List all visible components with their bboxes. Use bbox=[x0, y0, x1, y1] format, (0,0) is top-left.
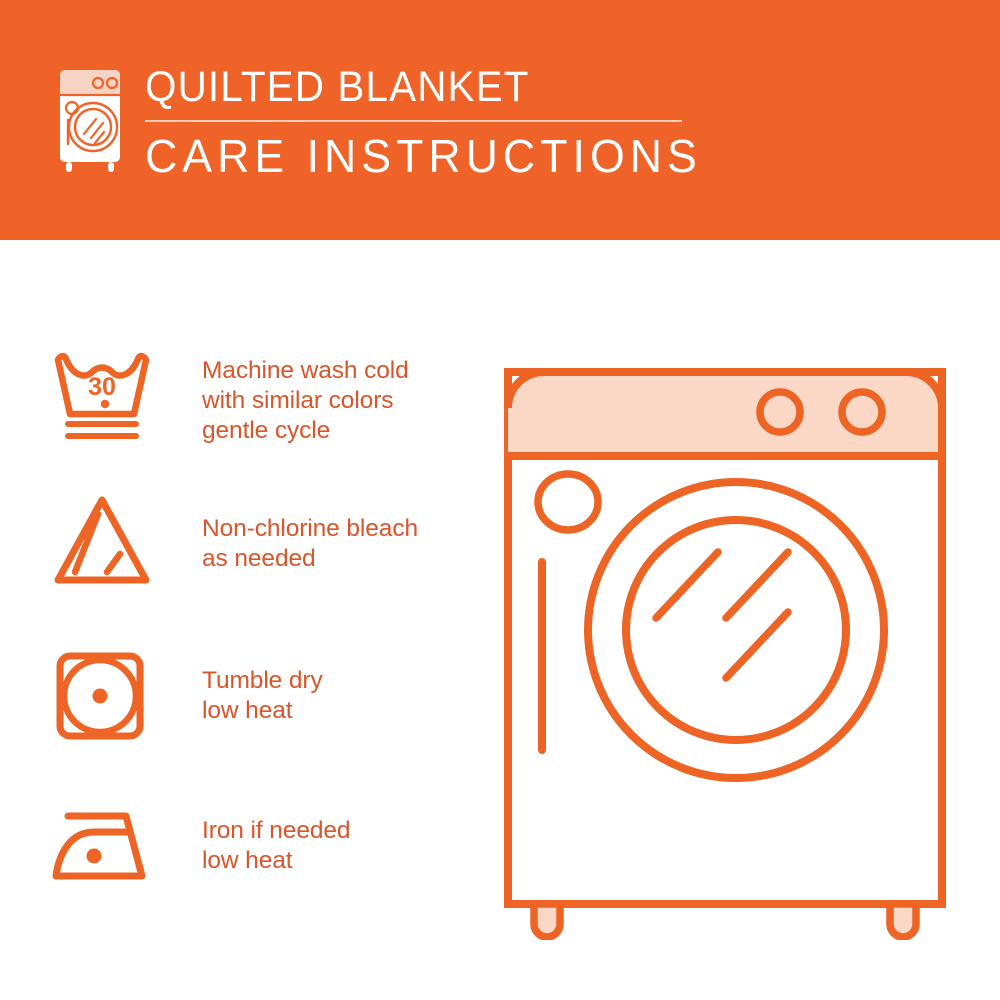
title-divider bbox=[145, 120, 682, 122]
care-item-iron: Iron if needed low heat bbox=[50, 798, 470, 894]
page-header: QUILTED BLANKET CARE INSTRUCTIONS bbox=[0, 0, 1000, 240]
care-item-label: Tumble dry low heat bbox=[160, 648, 323, 726]
care-item-machine-wash: 30 Machine wash cold with similar colors… bbox=[50, 350, 470, 446]
low-heat-dot bbox=[93, 689, 108, 704]
wash-tub-icon-wrapper: 30 bbox=[50, 350, 160, 446]
page-title-secondary: CARE INSTRUCTIONS bbox=[145, 129, 882, 183]
care-item-tumble-dry: Tumble dry low heat bbox=[50, 648, 470, 744]
iron-icon bbox=[50, 798, 154, 894]
bleach-triangle-icon bbox=[50, 492, 154, 588]
page-title-primary: QUILTED BLANKET bbox=[145, 62, 859, 112]
wash-temperature-label: 30 bbox=[88, 373, 116, 401]
leg-left bbox=[534, 904, 560, 937]
wash-tub-icon: 30 bbox=[50, 350, 154, 446]
tumble-dry-icon-wrapper bbox=[50, 648, 160, 744]
care-item-bleach: Non-chlorine bleach as needed bbox=[50, 492, 470, 588]
washing-machine-icon bbox=[46, 64, 130, 176]
iron-icon-wrapper bbox=[50, 798, 160, 894]
low-heat-dot bbox=[87, 849, 102, 864]
care-item-label: Non-chlorine bleach as needed bbox=[160, 492, 418, 574]
care-instructions-page: QUILTED BLANKET CARE INSTRUCTIONS 30 bbox=[0, 0, 1000, 1000]
care-item-label: Machine wash cold with similar colors ge… bbox=[160, 350, 409, 446]
leg-right bbox=[890, 904, 916, 937]
washing-machine-illustration bbox=[490, 330, 960, 940]
bleach-triangle-icon-wrapper bbox=[50, 492, 160, 588]
header-title-block: QUILTED BLANKET CARE INSTRUCTIONS bbox=[145, 62, 905, 183]
tumble-dry-icon bbox=[50, 648, 154, 744]
gentle-cycle-dot bbox=[101, 400, 109, 408]
control-panel bbox=[508, 372, 942, 456]
care-item-label: Iron if needed low heat bbox=[160, 798, 350, 876]
